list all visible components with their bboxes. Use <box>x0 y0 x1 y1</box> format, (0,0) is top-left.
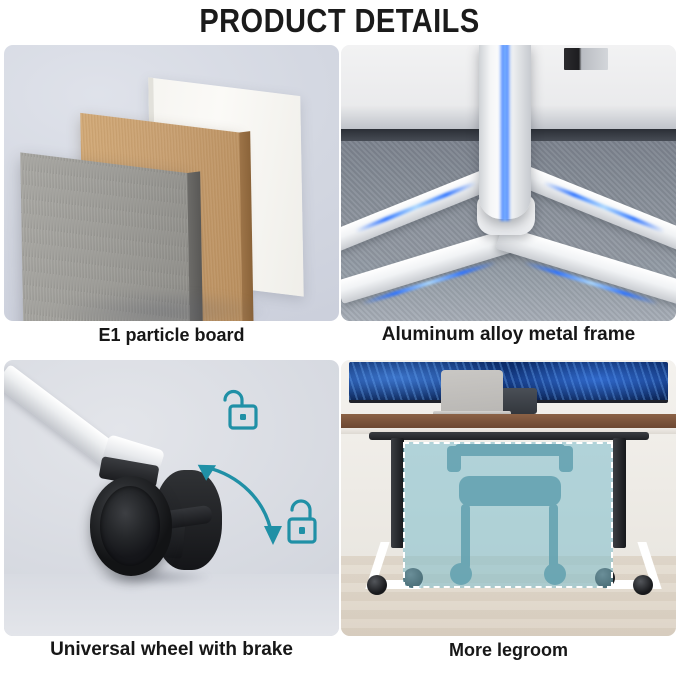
arrowhead-lock <box>264 526 282 545</box>
page-title: PRODUCT DETAILS <box>41 2 639 40</box>
product-details-page: PRODUCT DETAILS E1 particle board <box>0 0 679 673</box>
details-grid: E1 particle board <box>0 45 679 673</box>
laptop <box>441 370 503 413</box>
detail-cell-universal-wheel: Universal wheel with brake <box>4 360 339 673</box>
detail-cell-particle-board: E1 particle board <box>4 45 339 358</box>
caption-particle-board: E1 particle board <box>4 323 339 347</box>
padlock-open-icon <box>225 392 256 429</box>
board-stack-shadow <box>14 281 314 321</box>
detail-cell-more-legroom: More legroom <box>341 360 676 673</box>
padlock-closed-icon <box>289 501 315 542</box>
column-glow-stripe <box>499 45 511 221</box>
detail-cell-metal-frame: Aluminum alloy metal frame <box>341 45 676 358</box>
caption-more-legroom: More legroom <box>341 638 676 662</box>
brake-annotation-group <box>4 360 339 636</box>
legroom-highlight-area <box>403 442 613 588</box>
particle-board-photo <box>4 45 339 321</box>
desk-support-beam <box>369 432 649 440</box>
caption-universal-wheel: Universal wheel with brake <box>4 638 339 662</box>
more-legroom-photo <box>341 360 676 636</box>
caption-metal-frame: Aluminum alloy metal frame <box>341 323 676 347</box>
desk-leg-right <box>613 438 626 548</box>
desk-caster-right-front <box>633 575 653 595</box>
wall-device <box>564 48 608 70</box>
desk-caster-left-front <box>367 575 387 595</box>
metal-frame-photo <box>341 45 676 321</box>
curved-double-arrow-icon <box>205 467 272 536</box>
universal-wheel-photo <box>4 360 339 636</box>
desk-top-surface <box>341 414 676 428</box>
